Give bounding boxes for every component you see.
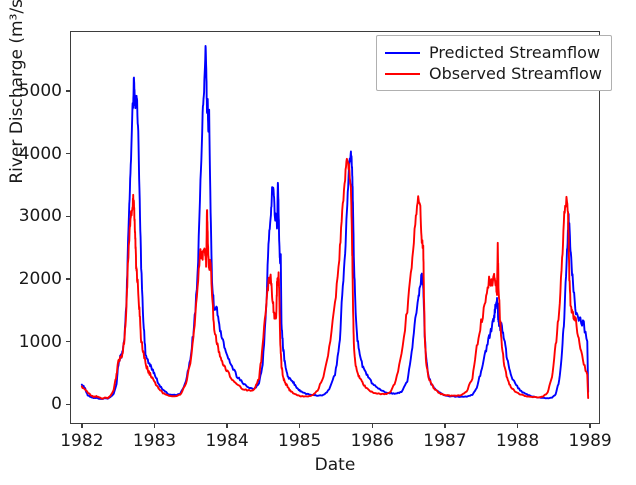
x-tick-mark [154, 423, 155, 428]
y-tick-label: 0 [51, 394, 62, 414]
x-tick-mark [517, 423, 518, 428]
series-line-predicted [82, 46, 588, 399]
x-tick-label: 1984 [205, 431, 248, 451]
x-tick-label: 1989 [568, 431, 611, 451]
y-axis-label: River Discharge (m³/s) [7, 0, 27, 253]
x-tick-label: 1982 [60, 431, 103, 451]
x-tick-label: 1985 [278, 431, 321, 451]
y-tick-mark [66, 153, 71, 154]
x-tick-mark [226, 423, 227, 428]
legend-label-predicted: Predicted Streamflow [429, 43, 600, 62]
y-tick-mark [66, 216, 71, 217]
streamflow-chart-figure: 0100020003000400050001982198319841985198… [0, 0, 636, 485]
chart-legend: Predicted Streamflow Observed Streamflow [376, 35, 612, 91]
y-tick-label: 2000 [19, 269, 62, 289]
legend-item-observed: Observed Streamflow [385, 63, 602, 84]
y-tick-mark [66, 278, 71, 279]
y-tick-mark [66, 341, 71, 342]
legend-label-observed: Observed Streamflow [429, 64, 602, 83]
x-tick-mark [81, 423, 82, 428]
x-tick-mark [444, 423, 445, 428]
y-tick-mark [66, 404, 71, 405]
x-tick-mark [299, 423, 300, 428]
legend-line-swatch-observed [385, 73, 420, 75]
series-line-observed [82, 159, 588, 399]
x-tick-label: 1988 [496, 431, 539, 451]
x-tick-label: 1986 [351, 431, 394, 451]
x-tick-mark [372, 423, 373, 428]
y-tick-mark [66, 90, 71, 91]
legend-item-predicted: Predicted Streamflow [385, 42, 602, 63]
y-tick-label: 1000 [19, 332, 62, 352]
legend-line-swatch-predicted [385, 52, 420, 54]
x-tick-mark [589, 423, 590, 428]
x-tick-label: 1983 [133, 431, 176, 451]
x-tick-label: 1987 [423, 431, 466, 451]
x-axis-label: Date [70, 455, 600, 475]
